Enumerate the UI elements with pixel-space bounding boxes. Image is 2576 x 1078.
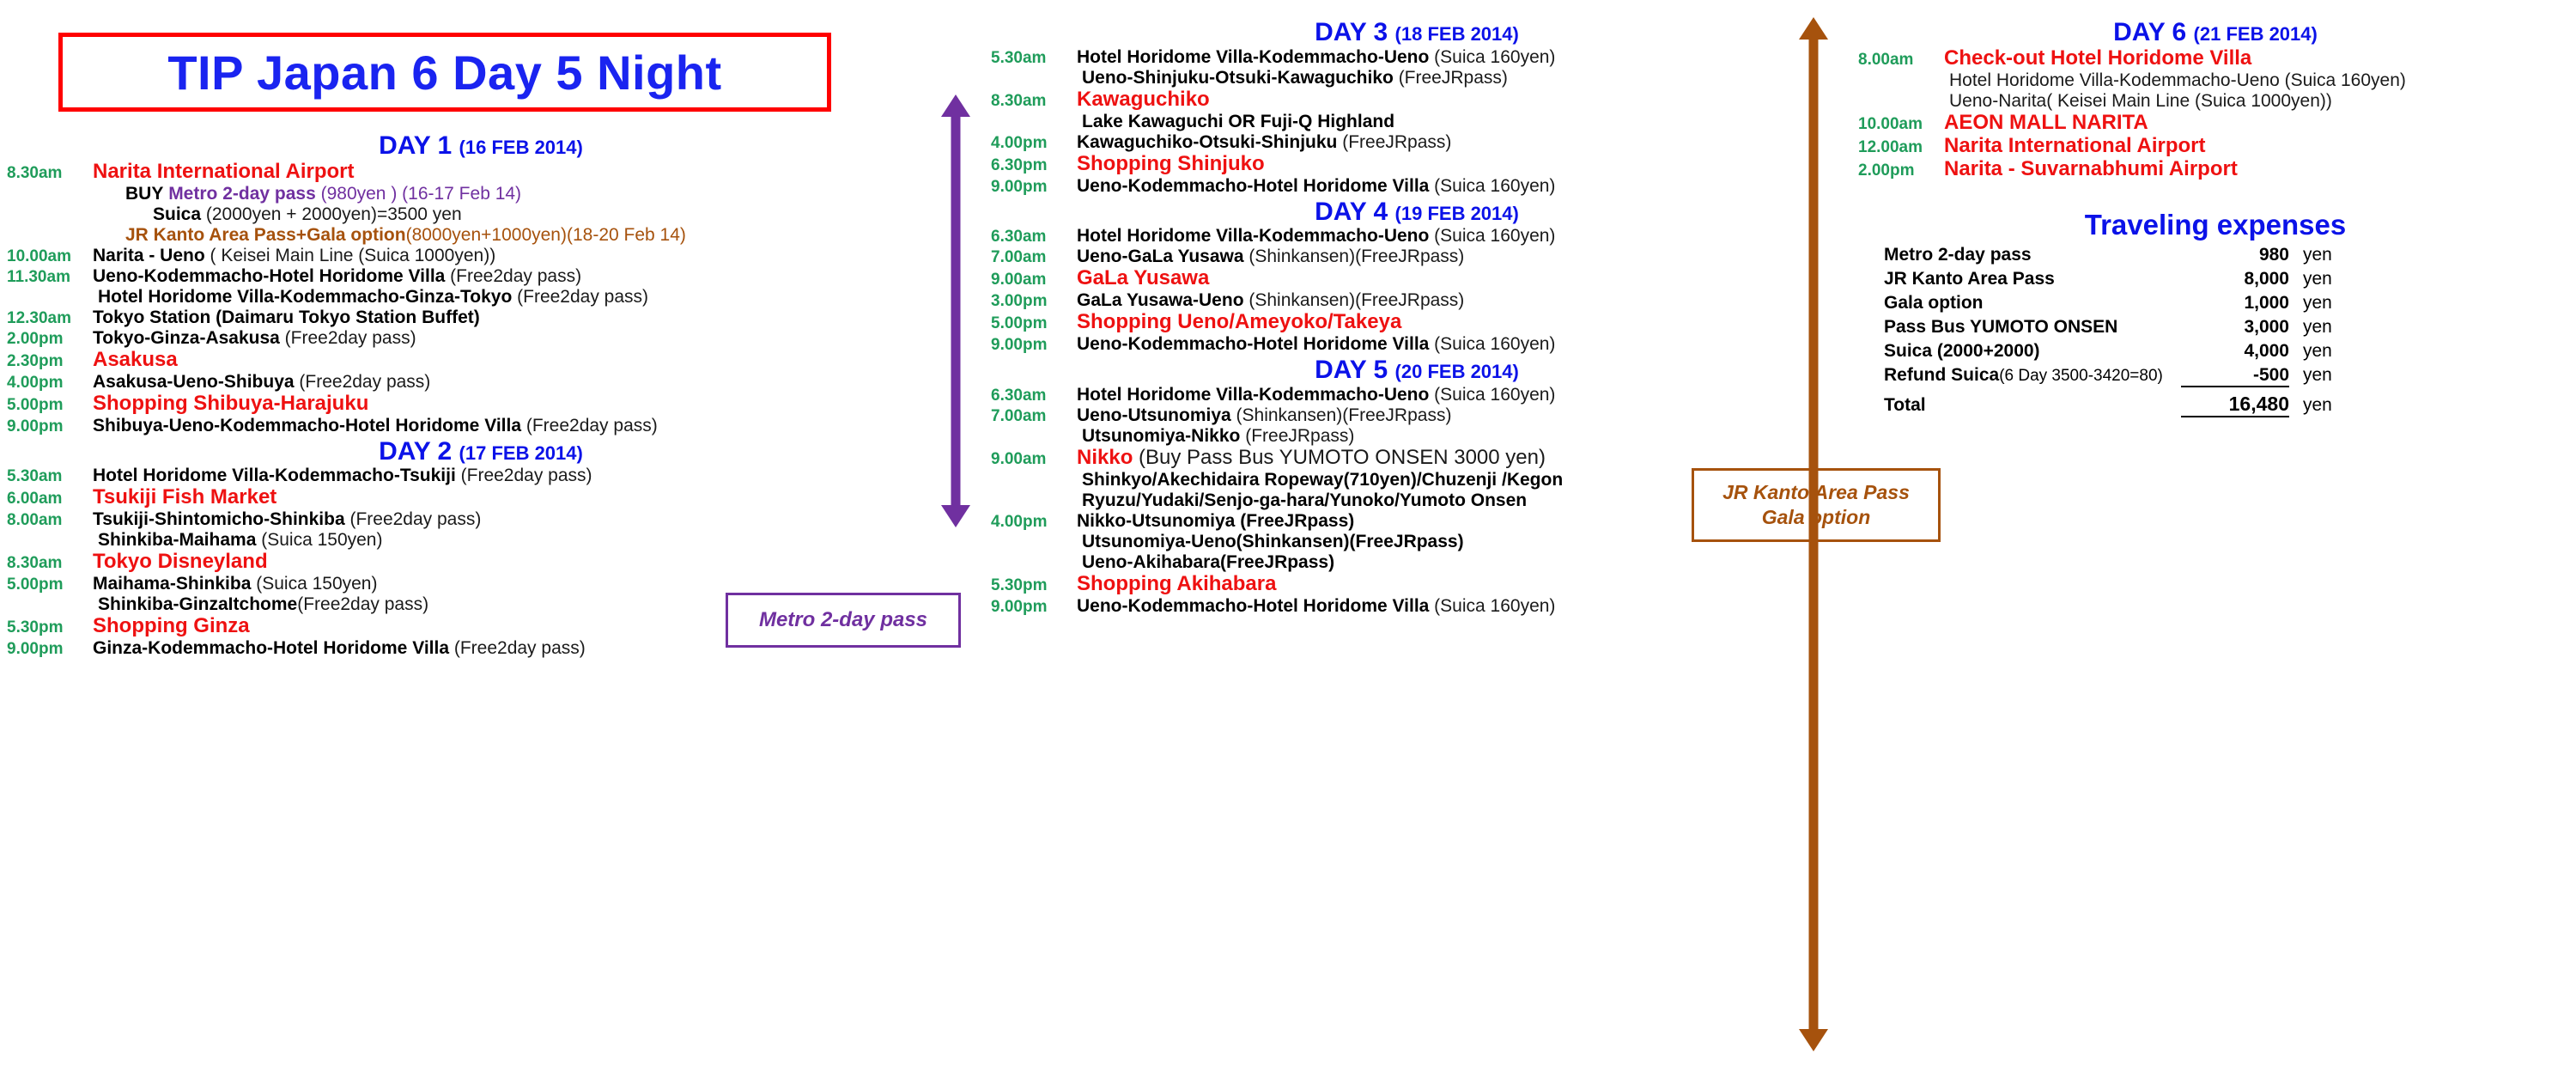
- itinerary-row: BUY Metro 2-day pass (980yen ) (16-17 Fe…: [3, 185, 962, 203]
- itinerary-row: 9.00pmGinza-Kodemmacho-Hotel Horidome Vi…: [3, 639, 962, 657]
- day-heading: DAY 3 (18 FEB 2014): [987, 19, 1846, 46]
- itinerary-row: Hotel Horidome Villa-Kodemmacho-Ueno (Su…: [1855, 71, 2576, 89]
- itinerary-text: Ginza-Kodemmacho-Hotel Horidome Villa (F…: [93, 639, 586, 657]
- day-block-1: DAY 1 (16 FEB 2014)8.30amNarita Internat…: [0, 132, 962, 435]
- itinerary-row: 5.00pmShopping Ueno/Ameyoko/Takeya: [987, 312, 1846, 332]
- itinerary-text-part: (Suica 160yen): [1429, 596, 1555, 616]
- itinerary-row: 9.00pmUeno-Kodemmacho-Hotel Horidome Vil…: [987, 597, 1846, 615]
- itinerary-row: 5.00pmMaihama-Shinkiba (Suica 150yen): [3, 575, 962, 593]
- itinerary-text: Tokyo Station (Daimaru Tokyo Station Buf…: [93, 308, 480, 326]
- expenses-label: Suica (2000+2000): [1855, 341, 2181, 362]
- itinerary-time: 9.00pm: [987, 337, 1077, 353]
- itinerary-text-part: (Shinkansen)(FreeJRpass): [1244, 290, 1465, 310]
- itinerary-text: Kawaguchiko: [1077, 89, 1210, 110]
- itinerary-time: 4.00pm: [987, 135, 1077, 151]
- itinerary-time: 5.30am: [3, 468, 93, 484]
- itinerary-text: Ueno-Shinjuku-Otsuki-Kawaguchiko (FreeJR…: [1077, 69, 1508, 87]
- itinerary-text-part: Shopping Shinjuko: [1077, 152, 1265, 175]
- itinerary-text: Utsunomiya-Nikko (FreeJRpass): [1077, 427, 1354, 445]
- itinerary-text: Ueno-Narita( Keisei Main Line (Suica 100…: [1944, 92, 2332, 110]
- itinerary-row: Utsunomiya-Ueno(Shinkansen)(FreeJRpass): [987, 533, 1846, 551]
- itinerary-text: Narita - Ueno ( Keisei Main Line (Suica …: [93, 247, 495, 265]
- itinerary-text-part: Asakusa-Ueno-Shibuya: [93, 372, 295, 392]
- itinerary-row: 9.00amNikko (Buy Pass Bus YUMOTO ONSEN 3…: [987, 448, 1846, 468]
- expenses-label-note: (6 Day 3500-3420=80): [1999, 367, 2163, 385]
- day-block-2: DAY 2 (17 FEB 2014)5.30amHotel Horidome …: [0, 438, 962, 658]
- expenses-row: JR Kanto Area Pass8,000yen: [1855, 269, 2576, 289]
- itinerary-text-part: Narita International Airport: [1944, 134, 2205, 157]
- itinerary-row: Shinkiba-Maihama (Suica 150yen): [3, 531, 962, 549]
- itinerary-text: Ueno-Akihabara(FreeJRpass): [1077, 553, 1334, 571]
- itinerary-row: 9.00pmUeno-Kodemmacho-Hotel Horidome Vil…: [987, 177, 1846, 195]
- itinerary-text-part: (Suica 150yen): [251, 574, 377, 594]
- expenses-label: Pass Bus YUMOTO ONSEN: [1855, 317, 2181, 338]
- itinerary-text: Tsukiji Fish Market: [93, 487, 276, 508]
- day-heading: DAY 1 (16 FEB 2014): [0, 132, 962, 160]
- itinerary-text-part: Hotel Horidome Villa-Kodemmacho-Ueno (Su…: [1944, 70, 2406, 90]
- itinerary-row: 11.30amUeno-Kodemmacho-Hotel Horidome Vi…: [3, 267, 962, 285]
- itinerary-row: 4.00pmAsakusa-Ueno-Shibuya (Free2day pas…: [3, 373, 962, 391]
- itinerary-text-part: Ueno-Kodemmacho-Hotel Horidome Villa: [93, 266, 445, 286]
- day-date: (18 FEB 2014): [1395, 23, 1519, 45]
- itinerary-time: 8.00am: [1855, 52, 1944, 68]
- itinerary-time: 9.00pm: [3, 641, 93, 657]
- itinerary-text: Shinkiba-GinzaItchome(Free2day pass): [93, 595, 428, 613]
- itinerary-time: 9.00am: [987, 451, 1077, 467]
- itinerary-text: Shopping Shibuya-Harajuku: [93, 393, 368, 414]
- itinerary-time: 9.00pm: [987, 179, 1077, 195]
- itinerary-text-part: Ueno-Akihabara(FreeJRpass): [1077, 552, 1334, 572]
- day-date: (16 FEB 2014): [459, 137, 583, 158]
- itinerary-column-left: DAY 1 (16 FEB 2014)8.30amNarita Internat…: [0, 129, 962, 660]
- day-date: (17 FEB 2014): [459, 442, 583, 464]
- itinerary-time: 5.30am: [987, 50, 1077, 66]
- day-block-5: DAY 5 (20 FEB 2014)6.30amHotel Horidome …: [987, 356, 1846, 615]
- itinerary-text: Ueno-Kodemmacho-Hotel Horidome Villa (Su…: [1077, 335, 1555, 353]
- itinerary-row: 6.30amHotel Horidome Villa-Kodemmacho-Ue…: [987, 386, 1846, 404]
- itinerary-text-part: (Free2day pass): [280, 328, 416, 348]
- itinerary-text: Shopping Ginza: [93, 616, 250, 636]
- itinerary-text: Shibuya-Ueno-Kodemmacho-Hotel Horidome V…: [93, 417, 658, 435]
- itinerary-text-part: Lake Kawaguchi OR Fuji-Q Highland: [1077, 112, 1394, 131]
- itinerary-text-part: (FreeJRpass): [1240, 426, 1354, 446]
- expenses-row: Suica (2000+2000)4,000yen: [1855, 341, 2576, 362]
- itinerary-text: Tsukiji-Shintomicho-Shinkiba (Free2day p…: [93, 510, 481, 528]
- day-block-4: DAY 4 (19 FEB 2014)6.30amHotel Horidome …: [987, 198, 1846, 354]
- expenses-row: Refund Suica(6 Day 3500-3420=80)-500yen: [1855, 365, 2576, 387]
- itinerary-text: JR Kanto Area Pass+Gala option(8000yen+1…: [93, 226, 686, 244]
- itinerary-row: Ueno-Akihabara(FreeJRpass): [987, 553, 1846, 571]
- itinerary-text-part: Nikko: [1077, 446, 1133, 469]
- itinerary-row: Suica (2000yen + 2000yen)=3500 yen: [3, 205, 962, 223]
- itinerary-time: 5.00pm: [3, 397, 93, 413]
- itinerary-time: 8.30am: [987, 93, 1077, 109]
- itinerary-text-part: Shinkiba-GinzaItchome: [93, 594, 297, 614]
- day-date: (19 FEB 2014): [1395, 203, 1519, 224]
- expenses-label: JR Kanto Area Pass: [1855, 269, 2181, 289]
- itinerary-time: 8.30am: [3, 165, 93, 181]
- itinerary-row: 2.00pmTokyo-Ginza-Asakusa (Free2day pass…: [3, 329, 962, 347]
- itinerary-row: 8.00amTsukiji-Shintomicho-Shinkiba (Free…: [3, 510, 962, 528]
- itinerary-time: 12.30am: [3, 310, 93, 326]
- itinerary-row: 3.00pmGaLa Yusawa-Ueno (Shinkansen)(Free…: [987, 291, 1846, 309]
- expenses-amount: 8,000: [2181, 269, 2289, 289]
- itinerary-row: 8.00amCheck-out Hotel Horidome Villa: [1855, 48, 2576, 69]
- itinerary-text: Asakusa-Ueno-Shibuya (Free2day pass): [93, 373, 430, 391]
- day-name: DAY 6: [2113, 18, 2193, 46]
- day-heading: DAY 6 (21 FEB 2014): [1855, 19, 2576, 46]
- itinerary-row: Ueno-Narita( Keisei Main Line (Suica 100…: [1855, 92, 2576, 110]
- itinerary-text-part: (Free2day pass): [449, 638, 586, 658]
- itinerary-time: 5.00pm: [987, 315, 1077, 332]
- itinerary-text-part: (FreeJRpass): [1337, 132, 1451, 152]
- itinerary-text-part: Hotel Horidome Villa-Kodemmacho-Ginza-To…: [93, 287, 512, 307]
- itinerary-text: Suica (2000yen + 2000yen)=3500 yen: [93, 205, 462, 223]
- itinerary-text-part: (Suica 150yen): [256, 530, 382, 550]
- itinerary-row: 8.30amKawaguchiko: [987, 89, 1846, 110]
- itinerary-text-part: (Shinkansen)(FreeJRpass): [1244, 247, 1465, 266]
- itinerary-time: 8.00am: [3, 512, 93, 528]
- itinerary-row: 6.00amTsukiji Fish Market: [3, 487, 962, 508]
- itinerary-time: 9.00pm: [987, 599, 1077, 615]
- itinerary-text-part: Ueno-Utsunomiya: [1077, 405, 1231, 425]
- itinerary-text-part: Shopping Ginza: [93, 614, 250, 637]
- expenses-amount: -500: [2181, 365, 2289, 387]
- expenses-row: Pass Bus YUMOTO ONSEN3,000yen: [1855, 317, 2576, 338]
- itinerary-text: Shopping Akihabara: [1077, 574, 1276, 594]
- itinerary-time: 10.00am: [3, 248, 93, 265]
- itinerary-text-part: Utsunomiya-Nikko: [1077, 426, 1240, 446]
- expenses-currency-unit: yen: [2289, 365, 2332, 386]
- day-name: DAY 3: [1315, 18, 1394, 46]
- expenses-amount: 3,000: [2181, 317, 2289, 338]
- itinerary-time: 2.30pm: [3, 353, 93, 369]
- itinerary-row: 5.30amHotel Horidome Villa-Kodemmacho-Ue…: [987, 48, 1846, 66]
- itinerary-time: 4.00pm: [3, 375, 93, 391]
- itinerary-text-part: Tsukiji Fish Market: [93, 485, 276, 509]
- itinerary-time: 5.00pm: [3, 576, 93, 593]
- expenses-currency-unit: yen: [2289, 293, 2332, 314]
- itinerary-time: 9.00am: [987, 271, 1077, 288]
- itinerary-text-part: Kawaguchiko-Otsuki-Shinjuku: [1077, 132, 1337, 152]
- itinerary-row: 2.00pmNarita - Suvarnabhumi Airport: [1855, 159, 2576, 180]
- itinerary-text-part: Ueno-Shinjuku-Otsuki-Kawaguchiko: [1077, 68, 1394, 88]
- itinerary-time: 12.00am: [1855, 139, 1944, 155]
- page-title: TIP Japan 6 Day 5 Night: [167, 45, 721, 100]
- itinerary-time: 2.00pm: [3, 331, 93, 347]
- itinerary-row: 5.30amHotel Horidome Villa-Kodemmacho-Ts…: [3, 466, 962, 484]
- itinerary-time: 10.00am: [1855, 116, 1944, 132]
- itinerary-text: Maihama-Shinkiba (Suica 150yen): [93, 575, 377, 593]
- itinerary-row: Shinkyo/Akechidaira Ropeway(710yen)/Chuz…: [987, 471, 1846, 489]
- expenses-label: Metro 2-day pass: [1855, 245, 2181, 265]
- expenses-currency-unit: yen: [2289, 341, 2332, 362]
- itinerary-time: 3.00pm: [987, 293, 1077, 309]
- itinerary-row: Shinkiba-GinzaItchome(Free2day pass): [3, 595, 962, 613]
- expenses-row: Gala option1,000yen: [1855, 293, 2576, 314]
- itinerary-text: Narita International Airport: [1944, 136, 2205, 156]
- itinerary-text-part: (2000yen + 2000yen)=3500 yen: [206, 204, 462, 224]
- itinerary-text-part: Ryuzu/Yudaki/Senjo-ga-hara/Yunoko/Yumoto…: [1077, 490, 1527, 510]
- itinerary-text-part: Ueno-Kodemmacho-Hotel Horidome Villa: [1077, 334, 1429, 354]
- itinerary-text-part: Kawaguchiko: [1077, 88, 1210, 111]
- itinerary-text-part: Ueno-GaLa Yusawa: [1077, 247, 1244, 266]
- title-box: TIP Japan 6 Day 5 Night: [58, 33, 831, 112]
- itinerary-column-middle: DAY 3 (18 FEB 2014)5.30amHotel Horidome …: [987, 15, 1846, 618]
- itinerary-row: 5.30pmShopping Ginza: [3, 616, 962, 636]
- itinerary-text: Ueno-Kodemmacho-Hotel Horidome Villa (Su…: [1077, 597, 1555, 615]
- itinerary-text-part: Narita - Ueno: [93, 246, 205, 265]
- expenses-row: Metro 2-day pass980yen: [1855, 245, 2576, 265]
- itinerary-text: Check-out Hotel Horidome Villa: [1944, 48, 2251, 69]
- itinerary-text-part: (Suica 160yen): [1429, 334, 1555, 354]
- itinerary-text: Kawaguchiko-Otsuki-Shinjuku (FreeJRpass): [1077, 133, 1451, 151]
- itinerary-text: Ueno-Kodemmacho-Hotel Horidome Villa (Su…: [1077, 177, 1555, 195]
- itinerary-row: 7.00amUeno-Utsunomiya (Shinkansen)(FreeJ…: [987, 406, 1846, 424]
- itinerary-text-part: (Free2day pass): [512, 287, 648, 307]
- itinerary-text-part: Narita - Suvarnabhumi Airport: [1944, 157, 2238, 180]
- itinerary-text: Narita - Suvarnabhumi Airport: [1944, 159, 2238, 180]
- itinerary-text: Shopping Ueno/Ameyoko/Takeya: [1077, 312, 1401, 332]
- expenses-amount: 980: [2181, 245, 2289, 265]
- expenses-label: Refund Suica(6 Day 3500-3420=80): [1855, 365, 2181, 386]
- itinerary-text: Hotel Horidome Villa-Kodemmacho-Ueno (Su…: [1077, 386, 1555, 404]
- itinerary-text: Nikko-Utsunomiya (FreeJRpass): [1077, 512, 1354, 530]
- itinerary-row: 4.00pmKawaguchiko-Otsuki-Shinjuku (FreeJ…: [987, 133, 1846, 151]
- itinerary-text-part: (8000yen+1000yen)(18-20 Feb 14): [406, 225, 686, 245]
- itinerary-text-part: Shopping Shibuya-Harajuku: [93, 392, 368, 415]
- itinerary-text-part: JR Kanto Area Pass+Gala option: [93, 225, 406, 245]
- day-name: DAY 1: [379, 131, 459, 160]
- day-name: DAY 5: [1315, 356, 1394, 384]
- itinerary-text-part: (Free2day pass): [345, 509, 482, 529]
- itinerary-text-part: (Free2day pass): [445, 266, 581, 286]
- itinerary-time: 6.30pm: [987, 157, 1077, 174]
- itinerary-text-part: Hotel Horidome Villa-Kodemmacho-Ueno: [1077, 385, 1429, 405]
- itinerary-text-part: (Buy Pass Bus YUMOTO ONSEN 3000 yen): [1133, 446, 1546, 469]
- itinerary-row: 7.00amUeno-GaLa Yusawa (Shinkansen)(Free…: [987, 247, 1846, 265]
- itinerary-row: 2.30pmAsakusa: [3, 350, 962, 370]
- itinerary-column-right: DAY 6 (21 FEB 2014)8.00amCheck-out Hotel…: [1855, 15, 2576, 421]
- expenses-amount: 16,480: [2181, 393, 2289, 417]
- itinerary-text-part: Tokyo Disneyland: [93, 550, 268, 573]
- itinerary-text: Tokyo Disneyland: [93, 551, 268, 572]
- itinerary-row: 8.30amTokyo Disneyland: [3, 551, 962, 572]
- itinerary-time: 8.30am: [3, 555, 93, 571]
- itinerary-text-part: (980yen ) (16-17 Feb 14): [321, 184, 521, 204]
- itinerary-time: 6.30am: [987, 387, 1077, 404]
- itinerary-text: Hotel Horidome Villa-Kodemmacho-Tsukiji …: [93, 466, 592, 484]
- itinerary-time: 4.00pm: [987, 514, 1077, 530]
- itinerary-text: Shopping Shinjuko: [1077, 154, 1265, 174]
- itinerary-text-part: (Suica 160yen): [1429, 176, 1555, 196]
- itinerary-text-part: Narita International Airport: [93, 160, 354, 183]
- day-date: (21 FEB 2014): [2194, 23, 2318, 45]
- itinerary-text-part: (Free2day pass): [456, 466, 592, 485]
- itinerary-text-part: Shinkyo/Akechidaira Ropeway(710yen)/Chuz…: [1077, 470, 1563, 490]
- itinerary-text-part: Shibuya-Ueno-Kodemmacho-Hotel Horidome V…: [93, 416, 521, 435]
- expenses-label: Gala option: [1855, 293, 2181, 314]
- itinerary-text-part: (Shinkansen)(FreeJRpass): [1231, 405, 1452, 425]
- itinerary-text: Lake Kawaguchi OR Fuji-Q Highland: [1077, 113, 1394, 131]
- day-heading: DAY 4 (19 FEB 2014): [987, 198, 1846, 226]
- itinerary-text-part: Nikko-Utsunomiya (FreeJRpass): [1077, 511, 1354, 531]
- itinerary-text-part: Utsunomiya-Ueno(Shinkansen)(FreeJRpass): [1077, 532, 1464, 551]
- itinerary-text: Hotel Horidome Villa-Kodemmacho-Ginza-To…: [93, 288, 648, 306]
- itinerary-text-part: Ueno-Kodemmacho-Hotel Horidome Villa: [1077, 176, 1429, 196]
- itinerary-text: AEON MALL NARITA: [1944, 113, 2148, 133]
- itinerary-text-part: Metro 2-day pass: [168, 184, 316, 204]
- itinerary-text: Utsunomiya-Ueno(Shinkansen)(FreeJRpass): [1077, 533, 1464, 551]
- day-heading: DAY 2 (17 FEB 2014): [0, 438, 962, 466]
- expenses-total-row: Total16,480yen: [1855, 393, 2576, 417]
- expenses-currency-unit: yen: [2289, 395, 2332, 416]
- itinerary-text-part: Tokyo Station (Daimaru Tokyo Station Buf…: [93, 308, 480, 327]
- itinerary-text: Hotel Horidome Villa-Kodemmacho-Ueno (Su…: [1077, 48, 1555, 66]
- itinerary-row: 6.30pmShopping Shinjuko: [987, 154, 1846, 174]
- itinerary-text: Ueno-Utsunomiya (Shinkansen)(FreeJRpass): [1077, 406, 1451, 424]
- itinerary-row: 5.00pmShopping Shibuya-Harajuku: [3, 393, 962, 414]
- itinerary-text: Ueno-GaLa Yusawa (Shinkansen)(FreeJRpass…: [1077, 247, 1464, 265]
- itinerary-text-part: Ueno-Kodemmacho-Hotel Horidome Villa: [1077, 596, 1429, 616]
- itinerary-text-part: (Suica 160yen): [1429, 226, 1555, 246]
- day-block-6: DAY 6 (21 FEB 2014)8.00amCheck-out Hotel…: [1855, 19, 2576, 180]
- itinerary-text: Ryuzu/Yudaki/Senjo-ga-hara/Yunoko/Yumoto…: [1077, 491, 1527, 509]
- itinerary-row: 9.00pmUeno-Kodemmacho-Hotel Horidome Vil…: [987, 335, 1846, 353]
- itinerary-row: 10.00amNarita - Ueno ( Keisei Main Line …: [3, 247, 962, 265]
- itinerary-text: Narita International Airport: [93, 161, 354, 182]
- itinerary-time: 9.00pm: [3, 418, 93, 435]
- day-heading: DAY 5 (20 FEB 2014): [987, 356, 1846, 384]
- expenses-currency-unit: yen: [2289, 245, 2332, 265]
- itinerary-row: 5.30pmShopping Akihabara: [987, 574, 1846, 594]
- itinerary-text-part: Hotel Horidome Villa-Kodemmacho-Ueno: [1077, 47, 1429, 67]
- itinerary-row: Utsunomiya-Nikko (FreeJRpass): [987, 427, 1846, 445]
- itinerary-row: 6.30amHotel Horidome Villa-Kodemmacho-Ue…: [987, 227, 1846, 245]
- itinerary-row: 4.00pmNikko-Utsunomiya (FreeJRpass): [987, 512, 1846, 530]
- itinerary-text-part: Tsukiji-Shintomicho-Shinkiba: [93, 509, 345, 529]
- itinerary-text: Shinkyo/Akechidaira Ropeway(710yen)/Chuz…: [1077, 471, 1563, 489]
- itinerary-row: 12.30amTokyo Station (Daimaru Tokyo Stat…: [3, 308, 962, 326]
- day-date: (20 FEB 2014): [1395, 361, 1519, 382]
- itinerary-time: 5.30pm: [987, 577, 1077, 594]
- itinerary-text-part: (Free2day pass): [297, 594, 428, 614]
- itinerary-text: BUY Metro 2-day pass (980yen ) (16-17 Fe…: [93, 185, 521, 203]
- itinerary-text-part: Tokyo-Ginza-Asakusa: [93, 328, 280, 348]
- itinerary-row: 9.00pmShibuya-Ueno-Kodemmacho-Hotel Hori…: [3, 417, 962, 435]
- expenses-currency-unit: yen: [2289, 317, 2332, 338]
- itinerary-text-part: GaLa Yusawa: [1077, 266, 1209, 289]
- expenses-currency-unit: yen: [2289, 269, 2332, 289]
- itinerary-time: 7.00am: [987, 249, 1077, 265]
- traveling-expenses-table: Traveling expensesMetro 2-day pass980yen…: [1855, 209, 2576, 417]
- itinerary-text-part: Check-out Hotel Horidome Villa: [1944, 46, 2251, 70]
- itinerary-text-part: Ginza-Kodemmacho-Hotel Horidome Villa: [93, 638, 449, 658]
- itinerary-time: 5.30pm: [3, 619, 93, 636]
- itinerary-text-part: Hotel Horidome Villa-Kodemmacho-Ueno: [1077, 226, 1429, 246]
- arrow-head-down-icon: [1799, 1029, 1828, 1051]
- itinerary-text-part: Ueno-Narita( Keisei Main Line (Suica 100…: [1944, 91, 2332, 111]
- itinerary-text-part: (Free2day pass): [521, 416, 658, 435]
- itinerary-row: Ryuzu/Yudaki/Senjo-ga-hara/Yunoko/Yumoto…: [987, 491, 1846, 509]
- itinerary-text-part: BUY: [93, 184, 163, 204]
- itinerary-row: 8.30amNarita International Airport: [3, 161, 962, 182]
- day-name: DAY 4: [1315, 198, 1394, 226]
- itinerary-text: Hotel Horidome Villa-Kodemmacho-Ueno (Su…: [1077, 227, 1555, 245]
- arrow-head-up-icon: [941, 94, 970, 117]
- itinerary-text-part: AEON MALL NARITA: [1944, 111, 2148, 134]
- itinerary-text-part: (Suica 160yen): [1429, 385, 1555, 405]
- itinerary-time: 6.00am: [3, 490, 93, 507]
- itinerary-time: 2.00pm: [1855, 162, 1944, 179]
- itinerary-text: GaLa Yusawa-Ueno (Shinkansen)(FreeJRpass…: [1077, 291, 1464, 309]
- itinerary-text-part: Shopping Ueno/Ameyoko/Takeya: [1077, 310, 1401, 333]
- expenses-title: Traveling expenses: [1855, 209, 2576, 241]
- expenses-label: Total: [1855, 395, 2181, 416]
- itinerary-text: Hotel Horidome Villa-Kodemmacho-Ueno (Su…: [1944, 71, 2406, 89]
- itinerary-row: Ueno-Shinjuku-Otsuki-Kawaguchiko (FreeJR…: [987, 69, 1846, 87]
- expenses-amount: 4,000: [2181, 341, 2289, 362]
- itinerary-text-part: Hotel Horidome Villa-Kodemmacho-Tsukiji: [93, 466, 456, 485]
- itinerary-text-part: ( Keisei Main Line (Suica 1000yen)): [205, 246, 496, 265]
- itinerary-text: Nikko (Buy Pass Bus YUMOTO ONSEN 3000 ye…: [1077, 448, 1546, 468]
- expenses-amount: 1,000: [2181, 293, 2289, 314]
- itinerary-text: Ueno-Kodemmacho-Hotel Horidome Villa (Fr…: [93, 267, 581, 285]
- itinerary-row: 10.00amAEON MALL NARITA: [1855, 113, 2576, 133]
- itinerary-text-part: (Free2day pass): [295, 372, 431, 392]
- itinerary-text-part: GaLa Yusawa-Ueno: [1077, 290, 1244, 310]
- itinerary-text: Asakusa: [93, 350, 178, 370]
- itinerary-time: 6.30am: [987, 228, 1077, 245]
- itinerary-text-part: Shinkiba-Maihama: [93, 530, 256, 550]
- itinerary-text-part: Maihama-Shinkiba: [93, 574, 251, 594]
- itinerary-text-part: (Suica 160yen): [1429, 47, 1555, 67]
- itinerary-text-part: Shopping Akihabara: [1077, 572, 1276, 595]
- day-name: DAY 2: [379, 437, 459, 466]
- itinerary-text-part: Asakusa: [93, 348, 178, 371]
- itinerary-row: 9.00amGaLa Yusawa: [987, 268, 1846, 289]
- itinerary-text: GaLa Yusawa: [1077, 268, 1209, 289]
- itinerary-time: 11.30am: [3, 269, 93, 285]
- itinerary-row: Lake Kawaguchi OR Fuji-Q Highland: [987, 113, 1846, 131]
- itinerary-row: Hotel Horidome Villa-Kodemmacho-Ginza-To…: [3, 288, 962, 306]
- itinerary-row: 12.00amNarita International Airport: [1855, 136, 2576, 156]
- day-block-3: DAY 3 (18 FEB 2014)5.30amHotel Horidome …: [987, 19, 1846, 195]
- itinerary-text: Tokyo-Ginza-Asakusa (Free2day pass): [93, 329, 416, 347]
- itinerary-row: JR Kanto Area Pass+Gala option(8000yen+1…: [3, 226, 962, 244]
- itinerary-text-part: Suica: [93, 204, 201, 224]
- itinerary-text: Shinkiba-Maihama (Suica 150yen): [93, 531, 382, 549]
- itinerary-text-part: (FreeJRpass): [1394, 68, 1508, 88]
- itinerary-time: 7.00am: [987, 408, 1077, 424]
